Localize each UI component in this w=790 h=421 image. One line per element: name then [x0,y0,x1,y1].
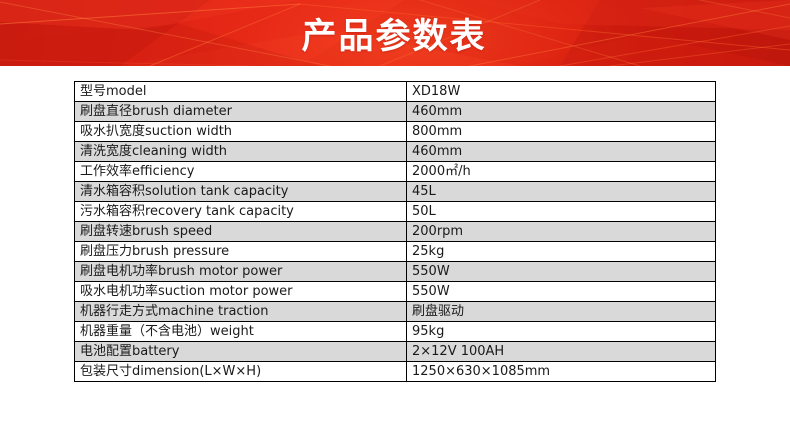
spec-label-cell: 刷盘转速brush speed [75,222,407,242]
table-row: 吸水扒宽度suction width800mm [75,122,716,142]
table-row: 吸水电机功率suction motor power550W [75,282,716,302]
spec-value-cell: 2×12V 100AH [407,342,716,362]
product-spec-table: 型号modelXD18W刷盘直径brush diameter460mm吸水扒宽度… [74,81,716,382]
spec-value-cell: 刷盘驱动 [407,302,716,322]
spec-value-cell: 460mm [407,142,716,162]
table-row: 电池配置battery2×12V 100AH [75,342,716,362]
spec-label-cell: 刷盘电机功率brush motor power [75,262,407,282]
spec-value-cell: 460mm [407,102,716,122]
table-row: 包装尺寸dimension(L×W×H)1250×630×1085mm [75,362,716,382]
table-row: 刷盘直径brush diameter460mm [75,102,716,122]
spec-table-body: 型号modelXD18W刷盘直径brush diameter460mm吸水扒宽度… [75,82,716,382]
table-row: 刷盘压力brush pressure25kg [75,242,716,262]
spec-label-cell: 清水箱容积solution tank capacity [75,182,407,202]
table-row: 刷盘转速brush speed200rpm [75,222,716,242]
spec-label-cell: 吸水电机功率suction motor power [75,282,407,302]
table-row: 机器重量（不含电池）weight95kg [75,322,716,342]
table-row: 机器行走方式machine traction刷盘驱动 [75,302,716,322]
page-banner: 产品参数表 [0,0,790,66]
spec-value-cell: 800mm [407,122,716,142]
spec-label-cell: 工作效率efficiency [75,162,407,182]
spec-label-cell: 刷盘压力brush pressure [75,242,407,262]
table-row: 型号modelXD18W [75,82,716,102]
spec-value-cell: 1250×630×1085mm [407,362,716,382]
spec-label-cell: 型号model [75,82,407,102]
spec-value-cell: XD18W [407,82,716,102]
spec-label-cell: 刷盘直径brush diameter [75,102,407,122]
spec-value-cell: 200rpm [407,222,716,242]
table-row: 清洗宽度cleaning width460mm [75,142,716,162]
spec-value-cell: 95kg [407,322,716,342]
page-title: 产品参数表 [0,0,790,66]
spec-value-cell: 550W [407,262,716,282]
spec-label-cell: 包装尺寸dimension(L×W×H) [75,362,407,382]
spec-value-cell: 50L [407,202,716,222]
spec-table-container: 型号modelXD18W刷盘直径brush diameter460mm吸水扒宽度… [74,81,715,382]
spec-value-cell: 2000㎡/h [407,162,716,182]
table-row: 污水箱容积recovery tank capacity50L [75,202,716,222]
spec-label-cell: 吸水扒宽度suction width [75,122,407,142]
spec-label-cell: 机器重量（不含电池）weight [75,322,407,342]
table-row: 工作效率efficiency2000㎡/h [75,162,716,182]
spec-label-cell: 污水箱容积recovery tank capacity [75,202,407,222]
spec-label-cell: 机器行走方式machine traction [75,302,407,322]
table-row: 清水箱容积solution tank capacity45L [75,182,716,202]
spec-label-cell: 清洗宽度cleaning width [75,142,407,162]
spec-value-cell: 45L [407,182,716,202]
spec-value-cell: 25kg [407,242,716,262]
spec-label-cell: 电池配置battery [75,342,407,362]
table-row: 刷盘电机功率brush motor power550W [75,262,716,282]
spec-value-cell: 550W [407,282,716,302]
